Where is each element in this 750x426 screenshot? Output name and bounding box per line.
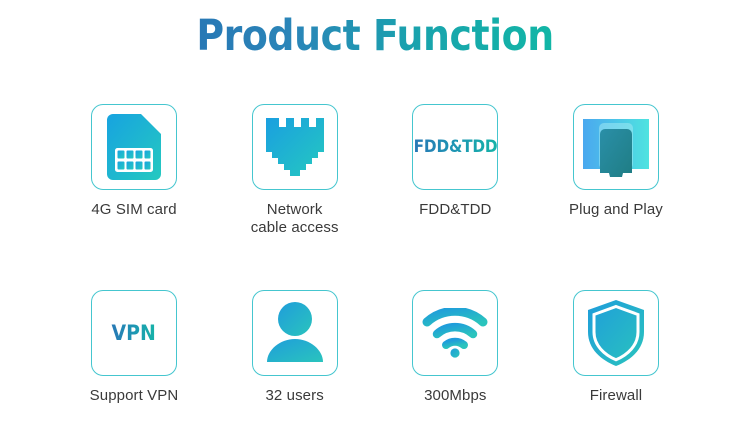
- feature-item-fdd-tdd[interactable]: FDD&TDD FDD&TDD: [377, 104, 533, 238]
- feature-label: Firewall: [590, 387, 642, 405]
- feature-label: 32 users: [265, 387, 323, 405]
- title-container: Product Function: [0, 0, 750, 59]
- feature-tile: [91, 104, 177, 190]
- shield-firewall-icon: [586, 299, 646, 367]
- feature-label: Support VPN: [90, 387, 179, 405]
- product-function-graphic: Product Function: [0, 0, 750, 426]
- feature-tile: [412, 290, 498, 376]
- feature-tile: [252, 290, 338, 376]
- feature-label: 4G SIM card: [91, 201, 176, 219]
- feature-item-sim-card[interactable]: 4G SIM card: [56, 104, 212, 238]
- feature-label: Plug and Play: [569, 201, 663, 219]
- feature-item-wifi[interactable]: 300Mbps: [377, 290, 533, 405]
- rj45-network-port-icon: [266, 117, 324, 177]
- user-person-icon: [265, 302, 325, 364]
- feature-item-users[interactable]: 32 users: [217, 290, 373, 405]
- feature-tile: VPN: [91, 290, 177, 376]
- feature-item-vpn[interactable]: VPN Support VPN: [56, 290, 212, 405]
- fdd-tdd-text-icon: FDD&TDD: [413, 137, 497, 157]
- feature-tile: [573, 290, 659, 376]
- feature-item-network-cable[interactable]: Network cable access: [217, 104, 373, 238]
- feature-tile: [252, 104, 338, 190]
- feature-row-2: VPN Support VPN: [0, 290, 750, 405]
- feature-label: Network cable access: [251, 201, 339, 238]
- feature-item-firewall[interactable]: Firewall: [538, 290, 694, 405]
- feature-item-plug-and-play[interactable]: Plug and Play: [538, 104, 694, 238]
- feature-label: 300Mbps: [424, 387, 486, 405]
- feature-tile: FDD&TDD: [412, 104, 498, 190]
- plug-and-play-device-icon: [579, 113, 653, 181]
- wifi-signal-icon: [422, 308, 488, 358]
- sim-card-icon: [107, 114, 161, 180]
- feature-label: FDD&TDD: [419, 201, 491, 219]
- vpn-text-icon: VPN: [112, 321, 156, 345]
- feature-grid: 4G SIM card Network cable a: [0, 104, 750, 405]
- feature-tile: [573, 104, 659, 190]
- page-title: Product Function: [196, 14, 553, 59]
- feature-row-1: 4G SIM card Network cable a: [0, 104, 750, 238]
